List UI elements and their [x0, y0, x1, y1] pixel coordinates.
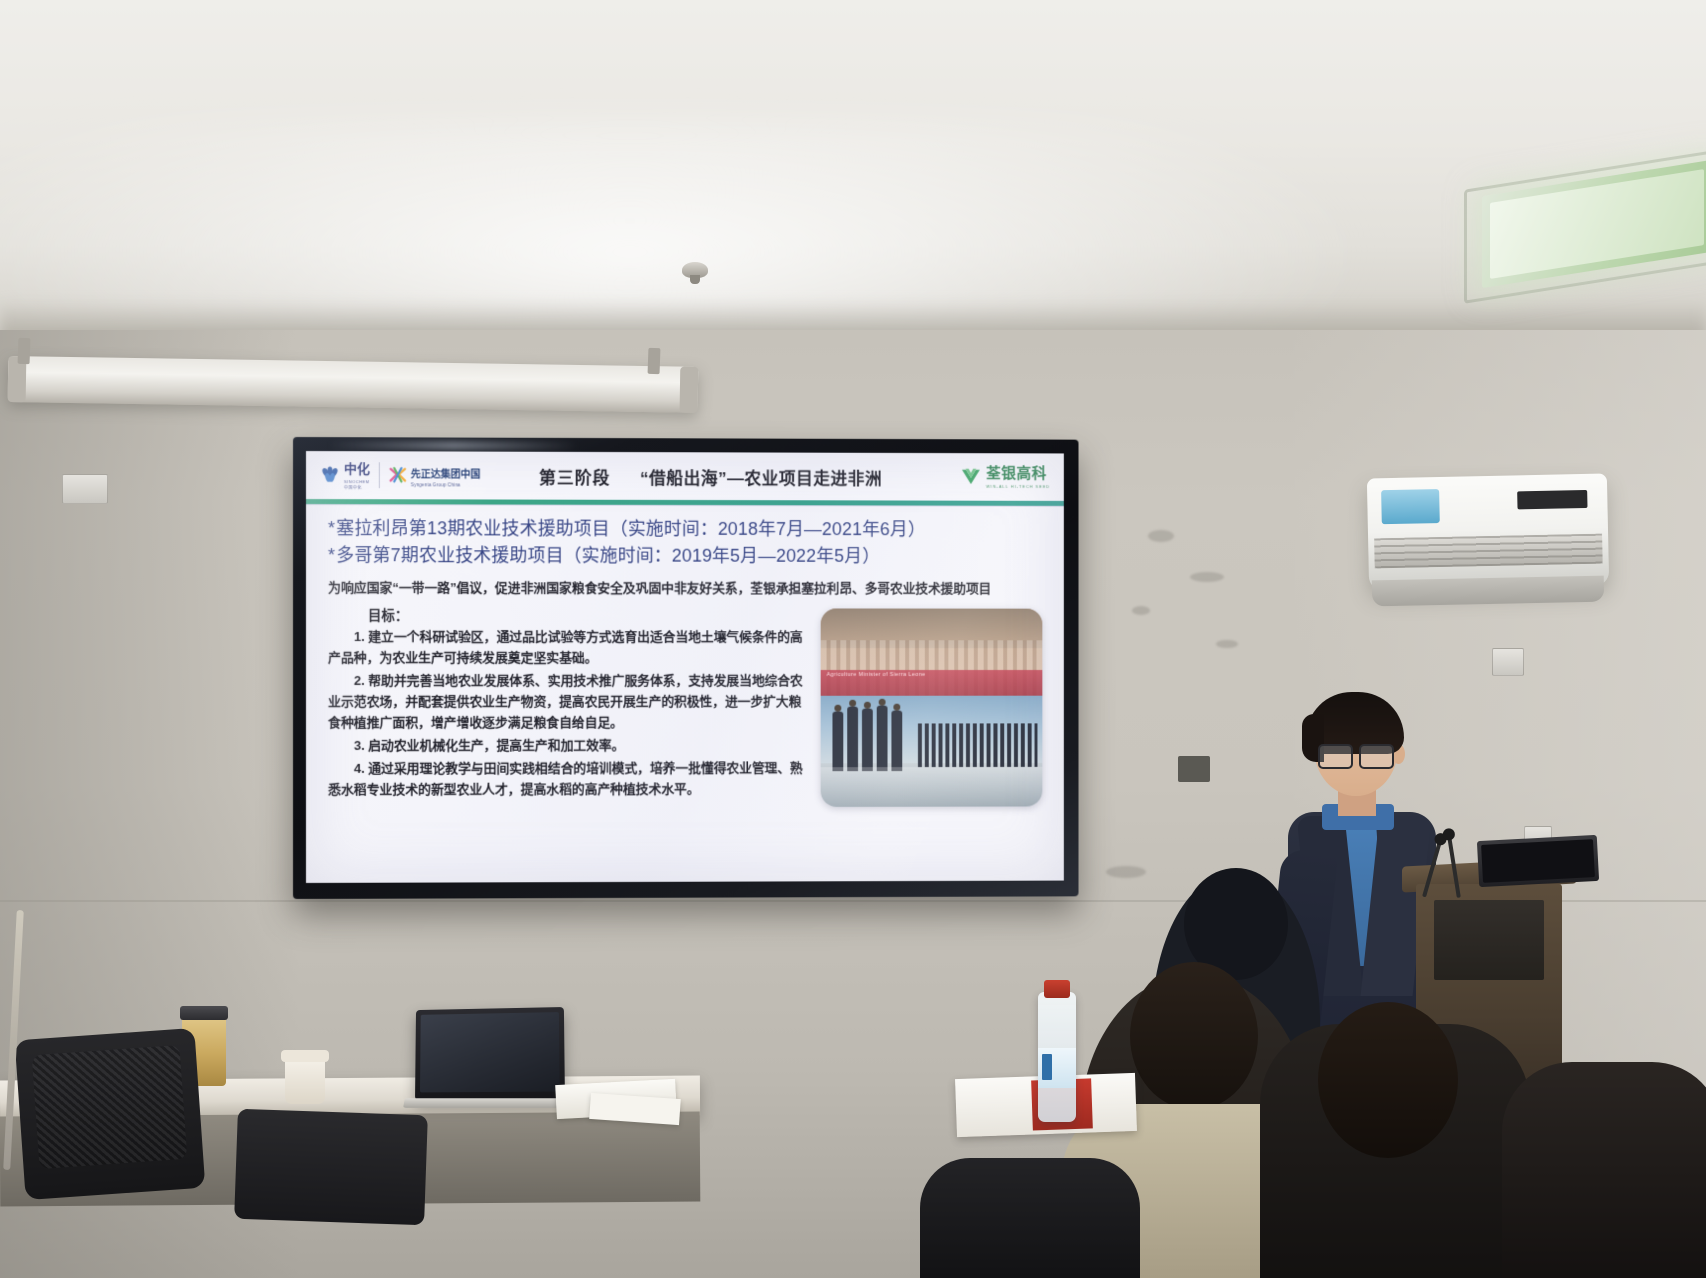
presentation-slide: 中化 SINOCHEM 中国中化	[306, 451, 1064, 883]
wall-mark	[1190, 572, 1224, 582]
bottle-label	[1038, 1048, 1076, 1088]
goals-and-photo: 目标： 1. 建立一个科研试验区，通过品比试验等方式选育出适合当地土壤气候条件的…	[328, 604, 1042, 808]
ac-vent	[1374, 534, 1603, 569]
laptop-keyboard[interactable]	[403, 1098, 577, 1108]
ac-display	[1517, 490, 1587, 509]
sinochem-subname: SINOCHEM	[344, 479, 370, 484]
bullet-text: 塞拉利昂第13期农业技术援助项目（实施时间：2018年7月—2021年6月）	[336, 518, 926, 539]
syngenta-wordmark: 先正达集团中国 Syngenta Group China	[411, 464, 481, 487]
bullet-marker: *	[328, 518, 335, 538]
bullet-text: 多哥第7期农业技术援助项目（实施时间：2019年5月—2022年5月）	[336, 545, 880, 566]
winall-subname: WIN-ALL HI-TECH SEED	[986, 484, 1050, 489]
sinochem-logo: 中化 SINOCHEM 中国中化	[320, 460, 370, 491]
slide-intro-paragraph: 为响应国家“一带一路”倡议，促进非洲国家粮食安全及巩固中非友好关系，荃银承担塞拉…	[328, 577, 1042, 597]
slide-photo: Agriculture Minister of Sierra Leone	[821, 608, 1043, 806]
ac-vent-louvers	[1374, 534, 1603, 569]
slide-header: 中化 SINOCHEM 中国中化	[306, 451, 1064, 501]
syngenta-mark-icon	[389, 466, 407, 484]
syngenta-name: 先正达集团中国	[411, 469, 481, 480]
syngenta-logo: 先正达集团中国 Syngenta Group China	[389, 464, 481, 487]
goals-column: 目标： 1. 建立一个科研试验区，通过品比试验等方式选育出适合当地土壤气候条件的…	[328, 604, 811, 808]
logo-divider	[379, 462, 380, 488]
classroom-photo: 中化 SINOCHEM 中国中化	[0, 0, 1706, 1278]
photo-delegation	[829, 703, 984, 771]
lectern-monitor[interactable]	[1477, 835, 1599, 887]
wall-mark	[1132, 606, 1150, 615]
paper-cup[interactable]	[285, 1056, 325, 1104]
wall-mark	[1106, 866, 1146, 878]
winall-logo: 荃银高科 WIN-ALL HI-TECH SEED	[960, 465, 1050, 489]
ac-bottom-panel	[1372, 576, 1604, 607]
presenter-glasses-icon	[1318, 744, 1394, 766]
bottle-cap[interactable]	[1044, 980, 1070, 998]
winall-wordmark: 荃银高科 WIN-ALL HI-TECH SEED	[986, 465, 1050, 489]
wall-mark	[1216, 640, 1238, 648]
wall-outlet[interactable]	[1492, 648, 1524, 676]
bullet-marker: *	[328, 545, 335, 565]
syngenta-subname: Syngenta Group China	[411, 482, 481, 487]
photo-floor-reflection	[821, 767, 1043, 807]
goals-title: 目标：	[368, 604, 811, 624]
photo-banner-text: Agriculture Minister of Sierra Leone	[827, 672, 926, 678]
office-chair[interactable]	[234, 1109, 428, 1226]
slide-title-group: 第三阶段 “借船出海”—农业项目走进非洲	[480, 463, 959, 489]
slide-stage-label: 第三阶段	[539, 463, 610, 488]
winall-name: 荃银高科	[986, 465, 1047, 482]
audience-head	[1318, 1002, 1458, 1158]
office-chair[interactable]	[15, 1028, 206, 1200]
wall-outlet[interactable]	[62, 474, 108, 504]
audience-member	[920, 1158, 1140, 1278]
slide-bullet: *多哥第7期农业技术援助项目（实施时间：2019年5月—2022年5月）	[328, 542, 1042, 570]
lectern-panel	[1434, 900, 1544, 980]
laptop-screen[interactable]	[415, 1007, 565, 1100]
wall-mark	[1148, 530, 1174, 542]
audience-member	[1502, 1062, 1706, 1278]
paper-cup-lid[interactable]	[281, 1050, 329, 1062]
sinochem-tagline: 中国中化	[344, 485, 370, 491]
slide-title: “借船出海”—农业项目走进非洲	[640, 464, 882, 490]
slide-bullet: *塞拉利昂第13期农业技术援助项目（实施时间：2018年7月—2021年6月）	[328, 515, 1042, 544]
ac-brand-badge	[1381, 489, 1440, 524]
fixture-bracket	[648, 348, 661, 374]
display-screen[interactable]: 中化 SINOCHEM 中国中化	[306, 451, 1064, 883]
goal-item: 3. 启动农业机械化生产，提高生产和加工效率。	[328, 734, 811, 756]
winall-mark-icon	[960, 467, 982, 487]
fixture-bracket	[18, 338, 31, 364]
wall-socket[interactable]	[1178, 756, 1210, 782]
goal-item: 2. 帮助并完善当地农业发展体系、实用技术推广服务体系，支持发展当地综合农业示范…	[328, 670, 811, 733]
sinochem-name: 中化	[344, 461, 370, 476]
goal-item: 4. 通过采用理论教学与田间实践相结合的培训模式，培养一批懂得农业管理、熟悉水稻…	[328, 757, 811, 800]
audience-head	[1130, 962, 1258, 1110]
fixture-cap-right	[680, 367, 699, 413]
chair-mesh-back	[32, 1045, 188, 1169]
goal-item: 1. 建立一个科研试验区，通过品比试验等方式选育出适合当地土壤气候条件的高产品种…	[328, 626, 811, 668]
wall-display[interactable]: 中化 SINOCHEM 中国中化	[293, 437, 1079, 899]
jar-lid[interactable]	[180, 1006, 228, 1020]
smoke-detector-icon	[682, 262, 708, 278]
sinochem-mark-icon	[320, 466, 340, 484]
slide-body: *塞拉利昂第13期农业技术援助项目（实施时间：2018年7月—2021年6月） …	[306, 505, 1064, 808]
air-conditioner[interactable]	[1367, 473, 1609, 590]
sinochem-wordmark: 中化 SINOCHEM 中国中化	[344, 460, 370, 491]
